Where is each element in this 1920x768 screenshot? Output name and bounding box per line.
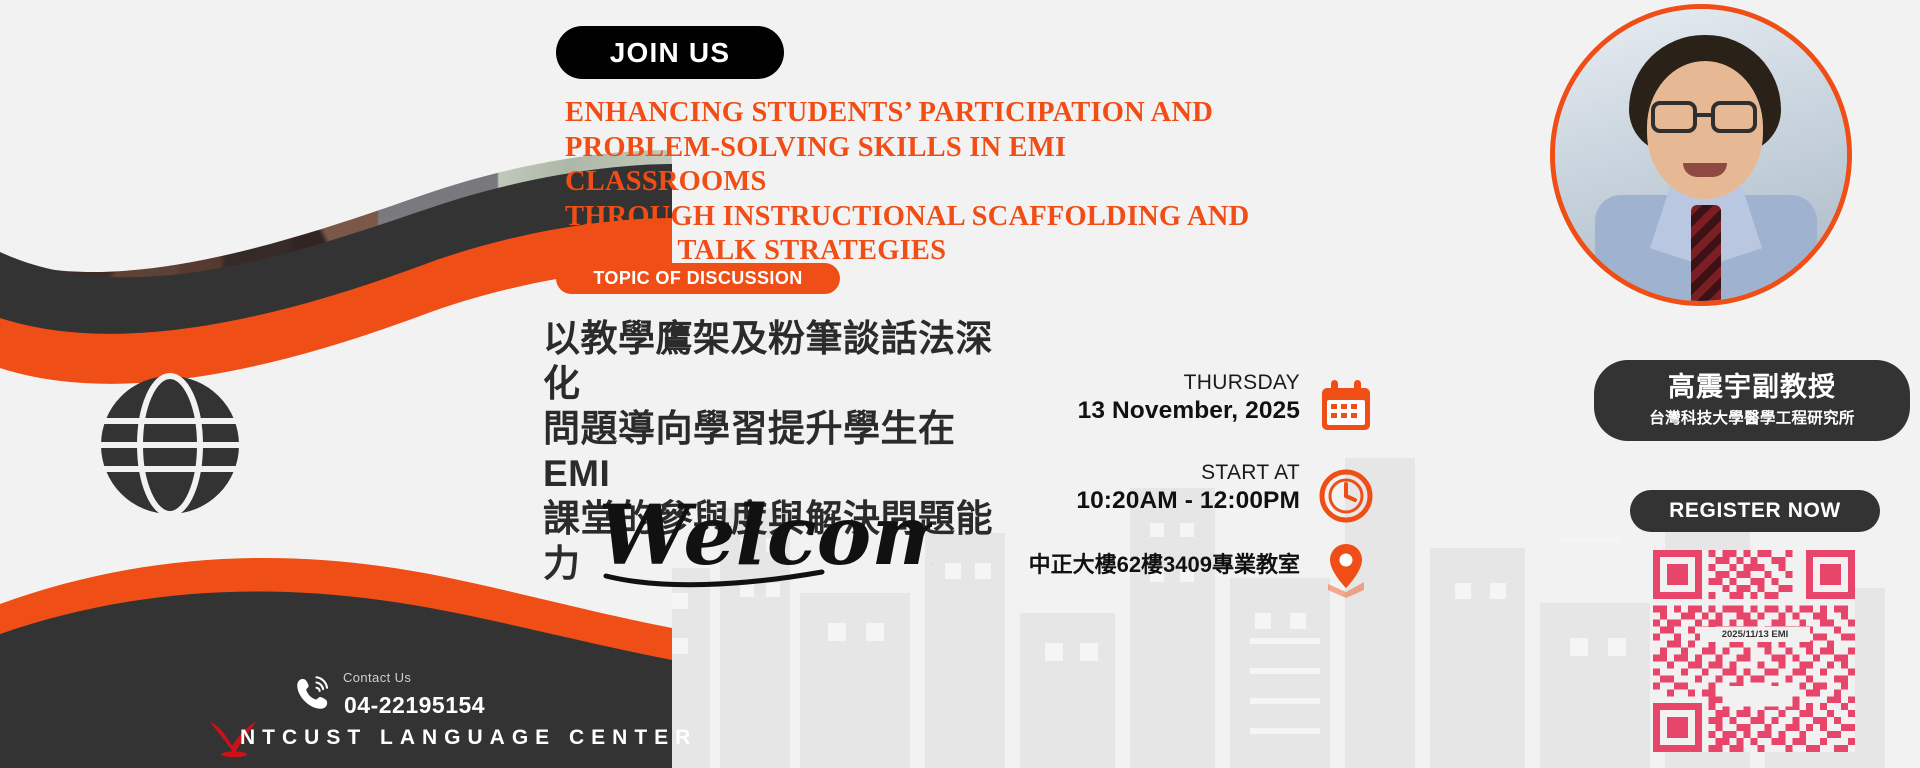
calendar-icon — [1316, 376, 1376, 436]
phone-icon — [292, 672, 334, 714]
welcome-script: Welcome — [592, 480, 932, 600]
speaker-portrait — [1550, 4, 1852, 306]
event-location-value: 中正大樓62樓3409專業教室 — [960, 550, 1300, 580]
map-pin-icon — [1316, 540, 1376, 600]
register-now-button[interactable]: REGISTER NOW — [1630, 490, 1880, 532]
chinese-title-line-1: 以教學鷹架及粉筆談話法深化 — [543, 316, 1013, 406]
event-time-row: START AT 10:20AM - 12:00PM — [960, 460, 1300, 516]
contact-us-label: Contact Us — [343, 670, 411, 685]
topic-badge-label: TOPIC OF DISCUSSION — [593, 268, 802, 289]
topic-of-discussion-badge: TOPIC OF DISCUSSION — [556, 263, 840, 294]
speaker-name-badge: 高震宇副教授 台灣科技大學醫學工程研究所 — [1594, 360, 1910, 441]
clock-icon — [1316, 466, 1376, 526]
contact-phone-number: 04-22195154 — [344, 692, 485, 719]
speaker-tie — [1691, 205, 1721, 306]
globe-icon — [95, 370, 245, 520]
speaker-name-text: 高震宇副教授 — [1604, 371, 1900, 404]
event-start-label: START AT — [960, 460, 1300, 486]
poster-root: Contact Us 04-22195154 NTCUST LANGUAGE C… — [0, 0, 1920, 768]
join-us-label: JOIN US — [610, 37, 730, 69]
lecturer-head — [410, 8, 454, 58]
event-location-row: 中正大樓62樓3409專業教室 — [960, 550, 1300, 580]
contact-footer: Contact Us 04-22195154 NTCUST LANGUAGE C… — [0, 628, 672, 768]
event-time-value: 10:20AM - 12:00PM — [960, 486, 1300, 516]
qr-code[interactable] — [1653, 550, 1855, 752]
event-date-value: 13 November, 2025 — [960, 396, 1300, 426]
english-title-line-1: ENHANCING STUDENTS’ PARTICIPATION AND — [565, 96, 1265, 131]
language-center-name: NTCUST LANGUAGE CENTER — [240, 726, 697, 750]
qr-caption: 2025/11/13 EMI — [1700, 627, 1810, 642]
english-title: ENHANCING STUDENTS’ PARTICIPATION AND PR… — [565, 96, 1265, 269]
speaker-affiliation-text: 台灣科技大學醫學工程研究所 — [1604, 406, 1900, 428]
event-day-label: THURSDAY — [960, 370, 1300, 396]
welcome-text: Welcome — [598, 488, 932, 584]
register-now-label: REGISTER NOW — [1669, 499, 1841, 523]
speaker-glasses-left — [1651, 101, 1697, 133]
english-title-line-3: THROUGH INSTRUCTIONAL SCAFFOLDING AND — [565, 200, 1265, 235]
event-info-block: THURSDAY 13 November, 2025 START AT 10:2… — [960, 370, 1300, 594]
speaker-glasses-right — [1711, 101, 1757, 133]
english-title-line-2: PROBLEM-SOLVING SKILLS IN EMI CLASSROOMS — [565, 131, 1265, 200]
join-us-badge[interactable]: JOIN US — [556, 26, 784, 79]
event-date-row: THURSDAY 13 November, 2025 — [960, 370, 1300, 426]
